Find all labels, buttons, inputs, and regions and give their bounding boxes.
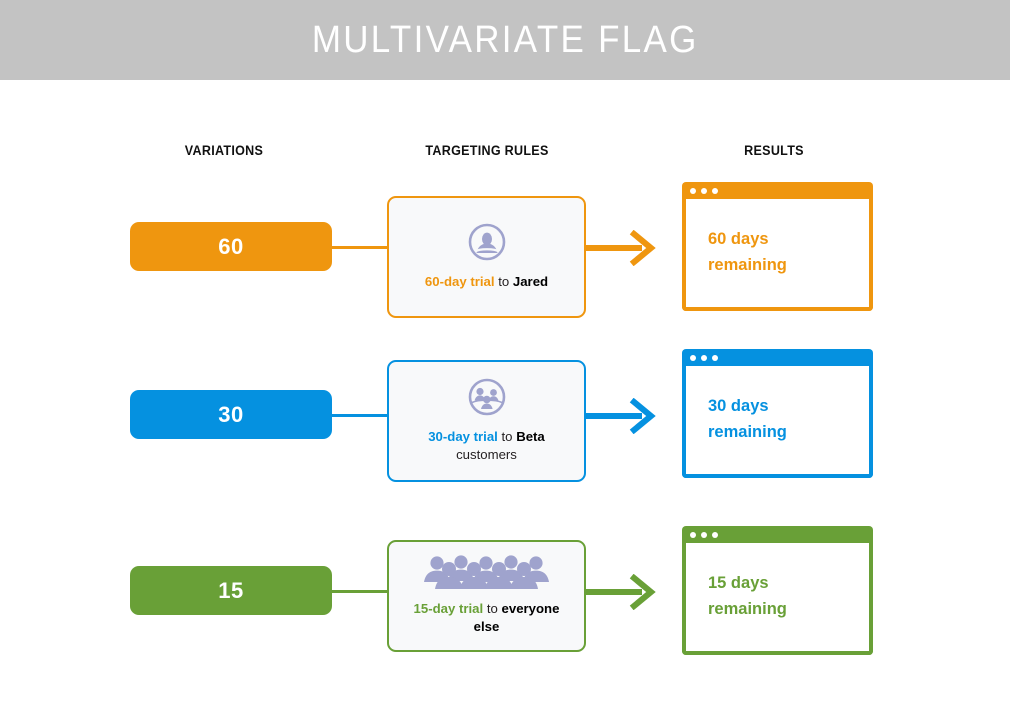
window-body: 30 days remaining: [682, 366, 873, 478]
window-body: 15 days remaining: [682, 543, 873, 655]
result-window[interactable]: 60 days remaining: [682, 182, 873, 311]
page-title: MULTIVARIATE FLAG: [312, 19, 699, 62]
flow-arrow-icon: [584, 574, 658, 615]
result-line-2: remaining: [708, 253, 787, 279]
variation-pill[interactable]: 60: [130, 222, 332, 271]
variation-value: 15: [218, 578, 243, 604]
crowd-icon: [420, 555, 554, 594]
flow-arrow-icon: [584, 230, 658, 271]
flag-row: 30 30-day trial to Beta customers: [0, 328, 1010, 508]
result-text: 60 days remaining: [708, 227, 787, 278]
targeting-rule-card[interactable]: 30-day trial to Beta customers: [387, 360, 586, 482]
targeting-rule-card[interactable]: 15-day trial to everyone else: [387, 540, 586, 652]
targeting-rule-text: 60-day trial to Jared: [425, 273, 548, 291]
rule-connector-word: to: [502, 429, 513, 444]
targeting-rule-text: 15-day trial to everyone else: [401, 600, 572, 635]
result-window[interactable]: 30 days remaining: [682, 349, 873, 478]
variation-pill[interactable]: 30: [130, 390, 332, 439]
targeting-rule-text: 30-day trial to Beta customers: [401, 428, 572, 463]
result-text: 15 days remaining: [708, 571, 787, 622]
result-text: 30 days remaining: [708, 394, 787, 445]
rule-connector-word: to: [498, 274, 509, 289]
result-line-1: 15 days: [708, 571, 787, 597]
result-line-2: remaining: [708, 420, 787, 446]
result-line-2: remaining: [708, 597, 787, 623]
variation-pill[interactable]: 15: [130, 566, 332, 615]
result-window[interactable]: 15 days remaining: [682, 526, 873, 655]
window-dot-icon: [701, 188, 707, 194]
result-line-1: 30 days: [708, 394, 787, 420]
rule-trial-label: 30-day trial: [428, 429, 498, 444]
window-titlebar: [682, 182, 873, 199]
result-line-1: 60 days: [708, 227, 787, 253]
column-heading-targeting-rules: TARGETING RULES: [394, 143, 580, 158]
rule-trial-label: 60-day trial: [425, 274, 495, 289]
single-user-icon: [467, 222, 507, 267]
variation-value: 30: [218, 402, 243, 428]
rule-connector-word: to: [487, 601, 498, 616]
window-dot-icon: [690, 532, 696, 538]
window-titlebar: [682, 526, 873, 543]
flag-row: 15: [0, 504, 1010, 684]
window-body: 60 days remaining: [682, 199, 873, 311]
rule-audience-label: Beta: [516, 429, 545, 444]
window-titlebar: [682, 349, 873, 366]
page-header: MULTIVARIATE FLAG: [0, 0, 1010, 80]
window-dot-icon: [712, 355, 718, 361]
window-dot-icon: [712, 532, 718, 538]
variation-value: 60: [218, 234, 243, 260]
targeting-rule-card[interactable]: 60-day trial to Jared: [387, 196, 586, 318]
window-dot-icon: [701, 355, 707, 361]
flow-arrow-icon: [584, 398, 658, 439]
window-dot-icon: [690, 355, 696, 361]
user-group-icon: [467, 377, 507, 422]
column-heading-variations: VARIATIONS: [131, 143, 317, 158]
window-dot-icon: [701, 532, 707, 538]
rule-trial-label: 15-day trial: [414, 601, 484, 616]
rule-audience-rest: customers: [456, 447, 517, 462]
column-heading-results: RESULTS: [681, 143, 867, 158]
window-dot-icon: [690, 188, 696, 194]
flag-row: 60 60-day trial to Jared: [0, 160, 1010, 340]
window-dot-icon: [712, 188, 718, 194]
rule-audience-label: Jared: [513, 274, 548, 289]
